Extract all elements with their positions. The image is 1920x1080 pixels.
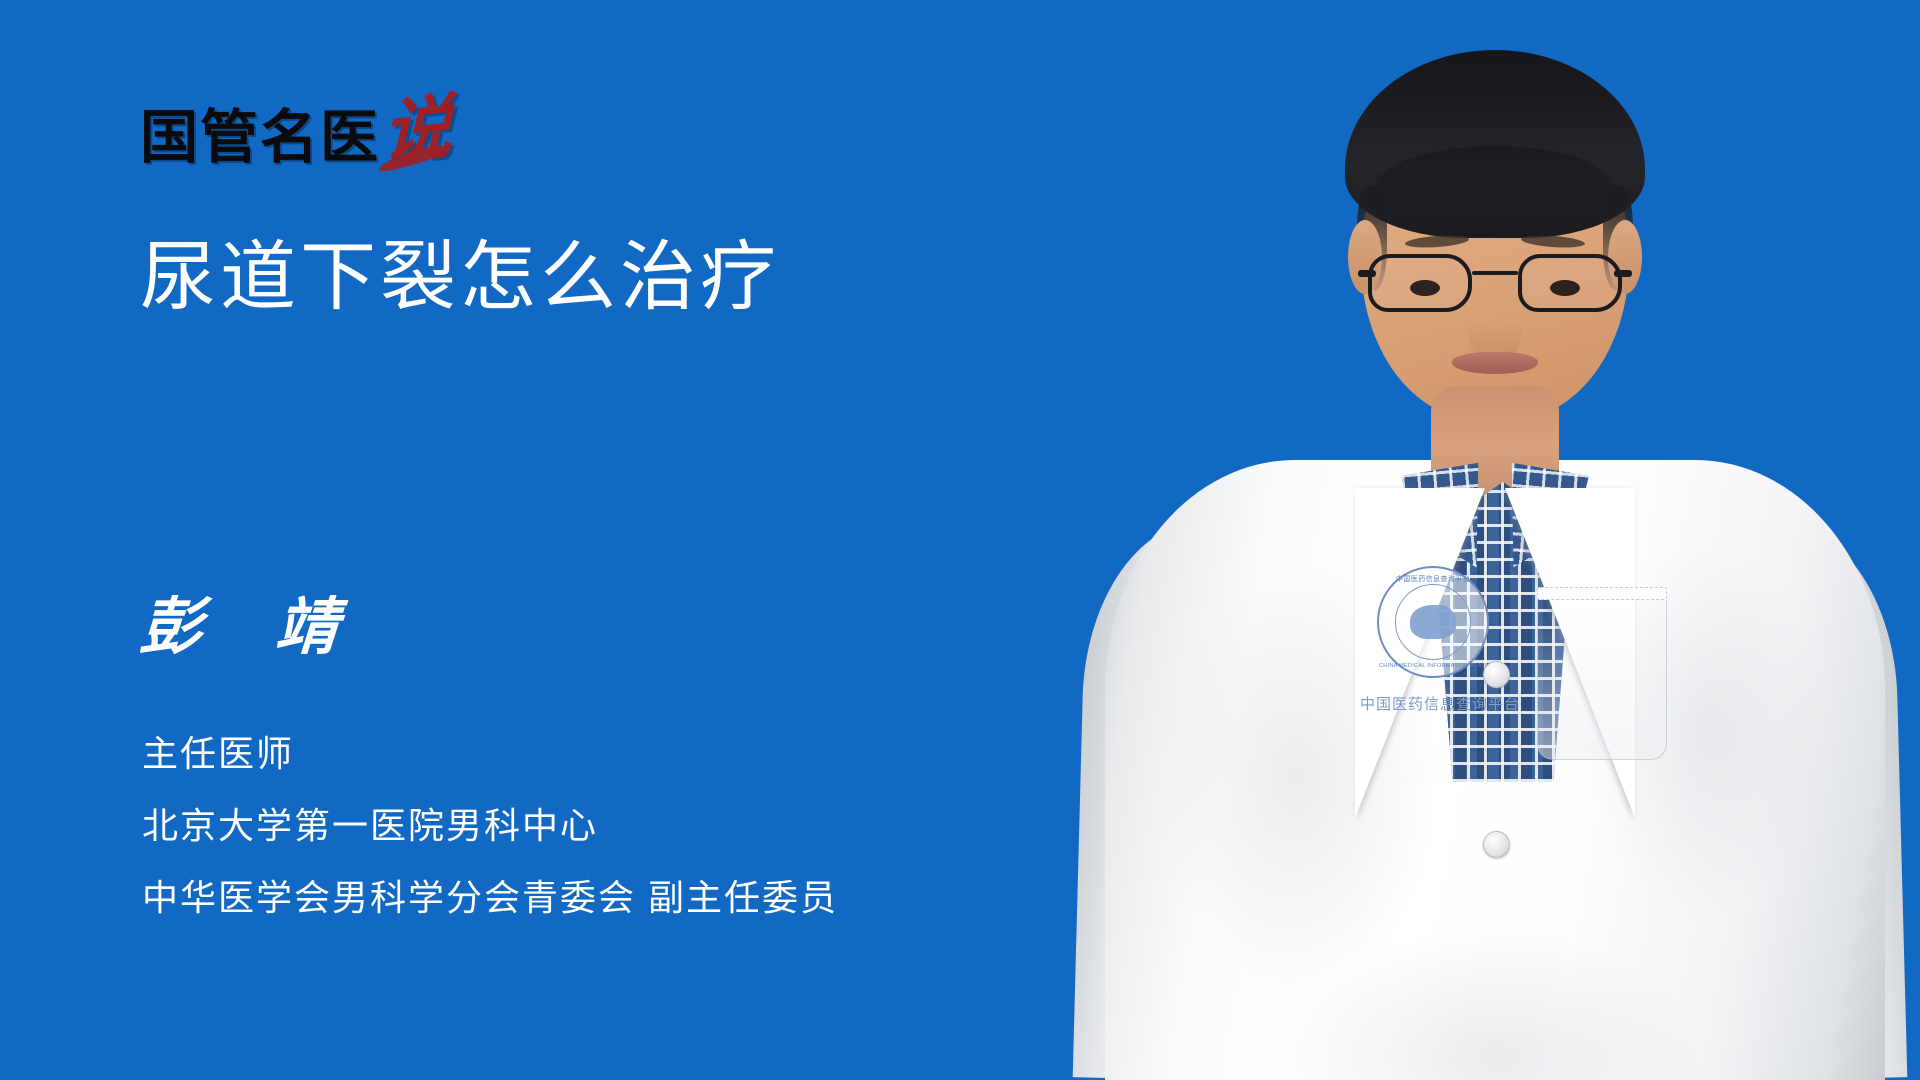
emblem-ring-text-cn: 中国医药信息查询平台 xyxy=(1379,574,1487,584)
glasses-bridge xyxy=(1472,271,1518,275)
emblem-caption: 中国医药信息查询平台 xyxy=(1355,693,1525,714)
doctor-figure: 中国医药信息查询平台 CHINA MEDICAL INFORMATION PLA… xyxy=(1060,0,1920,1080)
eye-right xyxy=(1550,280,1580,296)
eye-left xyxy=(1410,280,1440,296)
glasses-lens-left xyxy=(1368,254,1472,312)
glasses-temple-right xyxy=(1614,270,1632,277)
emblem-map-icon xyxy=(1410,605,1456,639)
mouth xyxy=(1452,352,1538,374)
credential-line-society: 中华医学会男科学分会青委会 副主任委员 xyxy=(142,880,838,916)
program-logo: 国管名医 说 xyxy=(140,96,452,166)
doctor-name: 彭 靖 xyxy=(138,596,366,658)
page-title: 尿道下裂怎么治疗 xyxy=(140,236,780,320)
white-lab-coat: 中国医药信息查询平台 CHINA MEDICAL INFORMATION PLA… xyxy=(1105,460,1885,1080)
coat-chest-pocket xyxy=(1537,600,1667,760)
program-logo-accent: 说 xyxy=(382,94,452,166)
text-column: 国管名医 说 尿道下裂怎么治疗 彭 靖 主任医师 北京大学第一医院男科中心 中华… xyxy=(0,0,1080,1080)
glasses-temple-left xyxy=(1358,270,1376,277)
coat-button-upper xyxy=(1483,661,1510,688)
eyebrow-left xyxy=(1405,234,1470,249)
doctor-portrait-photo: 中国医药信息查询平台 CHINA MEDICAL INFORMATION PLA… xyxy=(1060,0,1920,1080)
coat-button-lower xyxy=(1483,831,1510,858)
eyebrow-right xyxy=(1521,234,1586,249)
emblem-ring-text-en: CHINA MEDICAL INFORMATION PLATFORM xyxy=(1379,663,1487,669)
coat-pocket-flap xyxy=(1537,587,1667,600)
credential-line-title: 主任医师 xyxy=(142,736,838,772)
program-logo-main: 国管名医 xyxy=(140,108,380,166)
glasses-lens-right xyxy=(1518,254,1622,312)
emblem-inner-ring xyxy=(1395,584,1471,660)
hospital-emblem-icon: 中国医药信息查询平台 CHINA MEDICAL INFORMATION PLA… xyxy=(1377,566,1489,678)
doctor-head xyxy=(1361,68,1629,420)
title-card: 中国医药信息查询平台 CHINA MEDICAL INFORMATION PLA… xyxy=(0,0,1920,1080)
credential-line-affiliation: 北京大学第一医院男科中心 xyxy=(142,808,838,844)
hair xyxy=(1345,50,1645,238)
doctor-credentials: 主任医师 北京大学第一医院男科中心 中华医学会男科学分会青委会 副主任委员 xyxy=(142,736,838,916)
